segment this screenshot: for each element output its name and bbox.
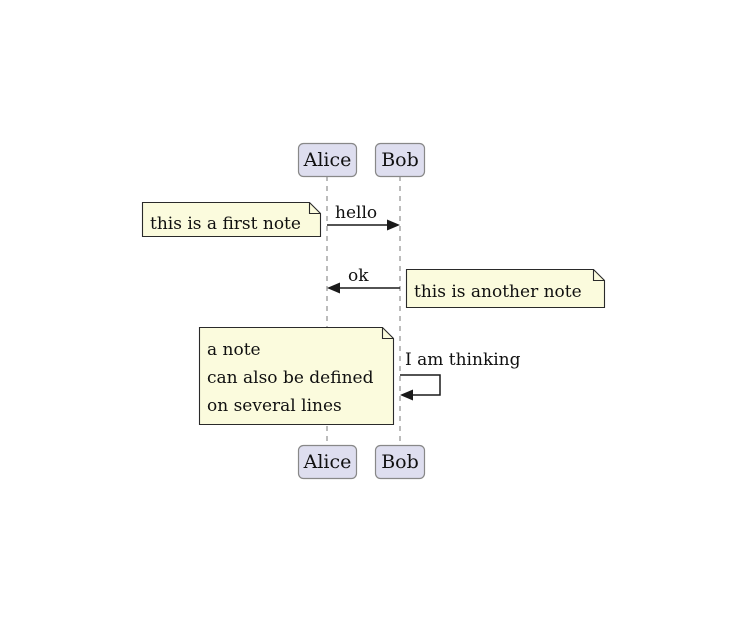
note-first[interactable]: this is a first note [143, 203, 321, 237]
participant-header-alice[interactable]: Alice [299, 144, 357, 177]
note-multiline[interactable]: a note can also be defined on several li… [200, 328, 394, 425]
participant-footer-label-alice: Alice [303, 451, 352, 473]
message-i-am-thinking[interactable]: I am thinking [400, 350, 521, 401]
arrowhead-left-icon [400, 390, 413, 401]
sequence-diagram-svg: Alice Bob hello this is a first note ok [0, 0, 746, 620]
message-label-hello: hello [335, 203, 377, 223]
self-message-loop [400, 375, 440, 395]
message-ok[interactable]: ok [327, 266, 400, 294]
arrowhead-left-icon [327, 283, 340, 294]
message-label-ok: ok [348, 266, 369, 286]
note-line: this is another note [414, 282, 582, 302]
message-label-i-am-thinking: I am thinking [405, 350, 521, 370]
arrowhead-right-icon [387, 220, 400, 231]
participant-header-bob[interactable]: Bob [376, 144, 425, 177]
participant-footer-label-bob: Bob [381, 451, 419, 473]
participant-header-label-alice: Alice [303, 149, 352, 171]
note-line: this is a first note [150, 214, 301, 234]
participant-footer-alice[interactable]: Alice [299, 446, 357, 479]
note-line: can also be defined [207, 368, 374, 388]
note-line: a note [207, 340, 261, 360]
note-line: on several lines [207, 396, 342, 416]
note-another[interactable]: this is another note [407, 270, 605, 308]
message-hello[interactable]: hello [327, 203, 400, 231]
sequence-diagram-canvas: Alice Bob hello this is a first note ok [0, 0, 746, 620]
participant-header-label-bob: Bob [381, 149, 419, 171]
participant-footer-bob[interactable]: Bob [376, 446, 425, 479]
